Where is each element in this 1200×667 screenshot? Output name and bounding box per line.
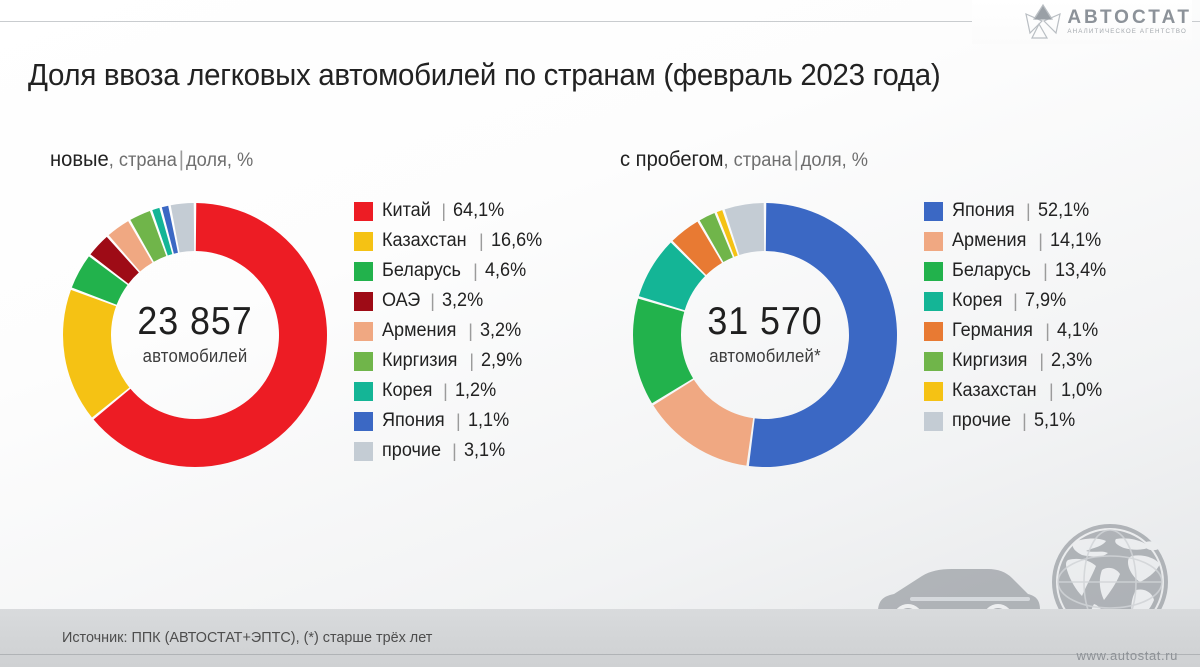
legend-item-label: Армения bbox=[952, 230, 1026, 252]
legend-item-label: Корея bbox=[952, 290, 1002, 312]
logo-subtitle: АНАЛИТИЧЕСКОЕ АГЕНТСТВО bbox=[1067, 29, 1192, 35]
legend-item-value: 5,1% bbox=[1034, 410, 1075, 432]
legend-item: Киргизия|2,9% bbox=[354, 346, 545, 376]
legend-color-swatch bbox=[354, 442, 373, 461]
legend-item-label: Корея bbox=[382, 380, 432, 402]
footer-divider bbox=[0, 654, 1200, 655]
legend-separator: | bbox=[430, 291, 435, 312]
legend-color-swatch bbox=[354, 412, 373, 431]
legend-item-value: 1,0% bbox=[1061, 380, 1102, 402]
legend-item: Киргизия|2,3% bbox=[924, 346, 1109, 376]
legend-separator: | bbox=[1045, 321, 1050, 342]
panel-new-cars-header: новые, страна|доля, % bbox=[50, 148, 525, 172]
legend-color-swatch bbox=[354, 262, 373, 281]
legend-item: Япония|1,1% bbox=[354, 406, 545, 436]
panel-new-cars-subtitle: , страна bbox=[109, 150, 177, 171]
legend-item-value: 52,1% bbox=[1038, 200, 1089, 222]
legend-item-label: Китай bbox=[382, 200, 431, 222]
legend-item: Китай|64,1% bbox=[354, 196, 545, 226]
panel-used-cars: с пробегом, страна|доля, % 31 570 автомо… bbox=[620, 148, 1109, 480]
panel-new-cars: новые, страна|доля, % 23 857 автомобилей… bbox=[50, 148, 545, 480]
legend-item-value: 3,2% bbox=[480, 320, 521, 342]
legend-item-value: 16,6% bbox=[491, 230, 542, 252]
autostat-logo: АВТОСТАТ АНАЛИТИЧЕСКОЕ АГЕНТСТВО bbox=[972, 0, 1192, 44]
legend-separator: | bbox=[479, 231, 484, 252]
legend-item-label: Армения bbox=[382, 320, 456, 342]
legend-item-value: 2,9% bbox=[481, 350, 522, 372]
legend-item: Япония|52,1% bbox=[924, 196, 1109, 226]
legend-item: Корея|1,2% bbox=[354, 376, 545, 406]
legend-separator: | bbox=[441, 201, 446, 222]
legend-color-swatch bbox=[354, 352, 373, 371]
legend-item-label: Казахстан bbox=[382, 230, 467, 252]
donut-slice bbox=[749, 203, 897, 467]
legend-color-swatch bbox=[924, 202, 943, 221]
legend-item-value: 14,1% bbox=[1050, 230, 1101, 252]
donut-new-cars-svg bbox=[50, 190, 340, 480]
legend-item-label: Япония bbox=[382, 410, 445, 432]
legend-color-swatch bbox=[354, 382, 373, 401]
legend-item-label: Беларусь bbox=[952, 260, 1031, 282]
legend-item-label: Япония bbox=[952, 200, 1015, 222]
legend-separator: | bbox=[1022, 411, 1027, 432]
source-note: Источник: ППК (АВТОСТАТ+ЭПТС), (*) старш… bbox=[62, 629, 432, 646]
legend-item: Беларусь|4,6% bbox=[354, 256, 545, 286]
legend-item: Беларусь|13,4% bbox=[924, 256, 1109, 286]
legend-item: Корея|7,9% bbox=[924, 286, 1109, 316]
legend-separator: | bbox=[469, 351, 474, 372]
legend-separator: | bbox=[468, 321, 473, 342]
panel-new-cars-header-sep: | bbox=[179, 148, 184, 171]
legend-separator: | bbox=[473, 261, 478, 282]
legend-separator: | bbox=[1013, 291, 1018, 312]
logo-name: АВТОСТАТ bbox=[1067, 8, 1192, 27]
panel-used-cars-unit: доля, % bbox=[801, 150, 868, 171]
legend-item: ОАЭ|3,2% bbox=[354, 286, 545, 316]
legend-item: Армения|3,2% bbox=[354, 316, 545, 346]
panel-used-cars-header: с пробегом, страна|доля, % bbox=[620, 148, 1089, 172]
legend-color-swatch bbox=[924, 232, 943, 251]
panel-used-cars-header-sep: | bbox=[794, 148, 799, 171]
legend-used-cars: Япония|52,1%Армения|14,1%Беларусь|13,4%К… bbox=[924, 196, 1109, 436]
legend-item-label: ОАЭ bbox=[382, 290, 420, 312]
legend-separator: | bbox=[1043, 261, 1048, 282]
legend-separator: | bbox=[1038, 231, 1043, 252]
page-title: Доля ввоза легковых автомобилей по стран… bbox=[28, 57, 940, 93]
donut-used-cars-svg bbox=[620, 190, 910, 480]
legend-item: Германия|4,1% bbox=[924, 316, 1109, 346]
legend-color-swatch bbox=[924, 262, 943, 281]
legend-item-value: 2,3% bbox=[1051, 350, 1092, 372]
legend-item-value: 7,9% bbox=[1025, 290, 1066, 312]
legend-separator: | bbox=[1049, 381, 1054, 402]
legend-separator: | bbox=[443, 381, 448, 402]
panel-new-cars-unit: доля, % bbox=[186, 150, 253, 171]
site-watermark: www.autostat.ru bbox=[1077, 648, 1179, 663]
donut-chart-used-cars: 31 570 автомобилей* bbox=[620, 190, 910, 480]
legend-separator: | bbox=[452, 441, 457, 462]
legend-color-swatch bbox=[354, 232, 373, 251]
legend-item-label: Киргизия bbox=[952, 350, 1027, 372]
legend-item-value: 3,1% bbox=[464, 440, 505, 462]
panel-new-cars-title: новые bbox=[50, 148, 109, 171]
legend-color-swatch bbox=[924, 322, 943, 341]
legend-item-value: 64,1% bbox=[453, 200, 504, 222]
autostat-trefoil-icon bbox=[1021, 2, 1063, 42]
legend-item-label: Киргизия bbox=[382, 350, 457, 372]
legend-item: Казахстан|1,0% bbox=[924, 376, 1109, 406]
legend-item: прочие|5,1% bbox=[924, 406, 1109, 436]
legend-new-cars: Китай|64,1%Казахстан|16,6%Беларусь|4,6%О… bbox=[354, 196, 545, 466]
legend-separator: | bbox=[1039, 351, 1044, 372]
legend-item: Казахстан|16,6% bbox=[354, 226, 545, 256]
legend-item-value: 13,4% bbox=[1055, 260, 1106, 282]
legend-item: Армения|14,1% bbox=[924, 226, 1109, 256]
donut-slice bbox=[725, 203, 765, 255]
legend-item-value: 1,2% bbox=[455, 380, 496, 402]
legend-color-swatch bbox=[924, 412, 943, 431]
legend-item-label: Германия bbox=[952, 320, 1033, 342]
legend-color-swatch bbox=[924, 292, 943, 311]
legend-item-value: 4,6% bbox=[485, 260, 526, 282]
panel-used-cars-title: с пробегом bbox=[620, 148, 724, 171]
legend-item-label: Беларусь bbox=[382, 260, 461, 282]
legend-color-swatch bbox=[354, 322, 373, 341]
legend-separator: | bbox=[1026, 201, 1031, 222]
legend-item-label: Казахстан bbox=[952, 380, 1037, 402]
donut-chart-new-cars: 23 857 автомобилей bbox=[50, 190, 340, 480]
legend-item-value: 4,1% bbox=[1057, 320, 1098, 342]
legend-item-label: прочие bbox=[952, 410, 1011, 432]
legend-color-swatch bbox=[354, 202, 373, 221]
legend-separator: | bbox=[456, 411, 461, 432]
legend-item-value: 3,2% bbox=[442, 290, 483, 312]
legend-color-swatch bbox=[924, 352, 943, 371]
panel-used-cars-subtitle: , страна bbox=[724, 150, 792, 171]
legend-item-label: прочие bbox=[382, 440, 441, 462]
legend-item-value: 1,1% bbox=[468, 410, 509, 432]
legend-color-swatch bbox=[354, 292, 373, 311]
legend-color-swatch bbox=[924, 382, 943, 401]
legend-item: прочие|3,1% bbox=[354, 436, 545, 466]
